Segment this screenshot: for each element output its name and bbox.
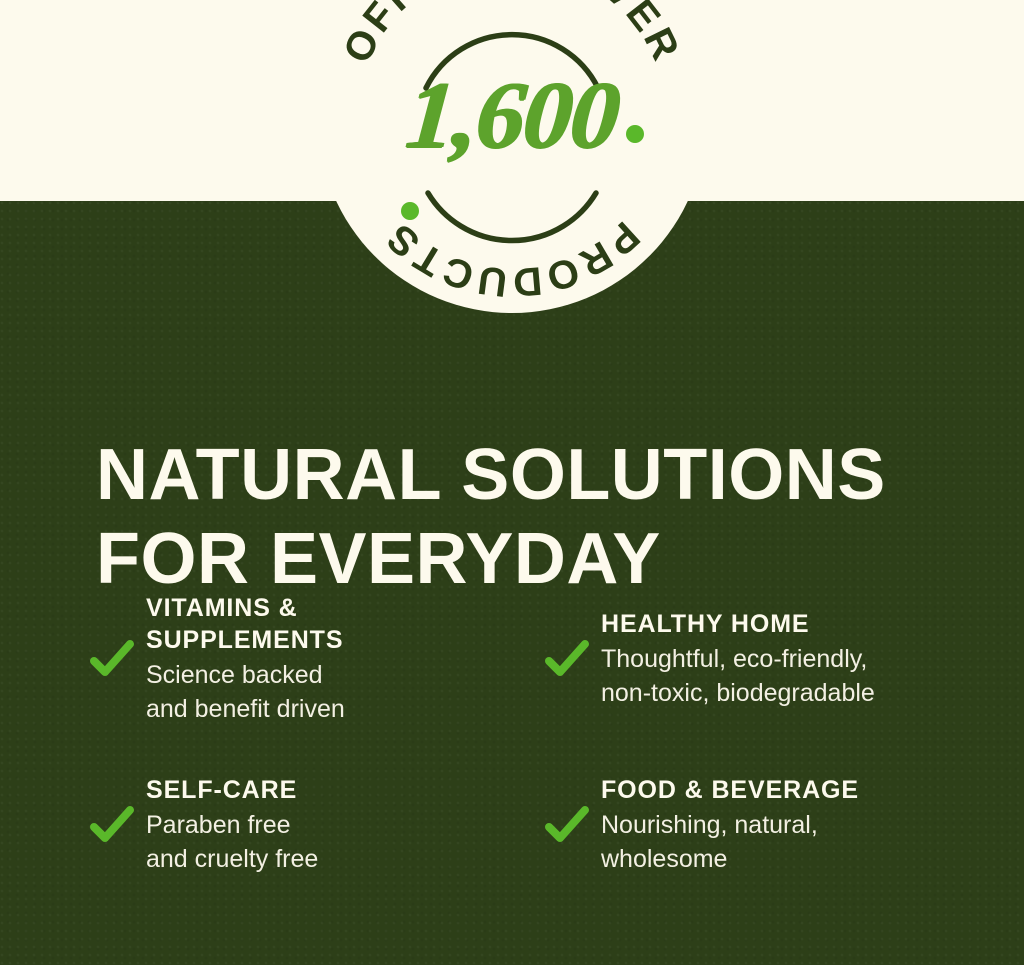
feature-text: SELF-CARE Paraben free and cruelty free [146,774,545,876]
feature-description-line: and cruelty free [146,842,545,876]
feature-description-line: Nourishing, natural, [601,808,990,842]
feature-description: Nourishing, natural, wholesome [601,808,990,876]
feature-title-line: FOOD & BEVERAGE [601,776,859,804]
product-count-badge: OFFERING OVER PRODUCTS 1,600 [318,0,706,313]
page-title: NATURAL SOLUTIONS FOR EVERYDAY [96,433,976,601]
feature-text: HEALTHY HOME Thoughtful, eco-friendly, n… [601,608,990,710]
feature-description: Science backed and benefit driven [146,658,545,726]
feature-description: Paraben free and cruelty free [146,808,545,876]
badge-count-wrapper: 1,600 [318,0,706,313]
page-title-line-1: NATURAL SOLUTIONS [96,433,976,517]
badge-count-value: 1,600 [402,67,621,163]
checkmark-icon [90,803,134,847]
feature-title-line: HEALTHY HOME [601,610,810,638]
feature-description-line: Paraben free [146,808,545,842]
feature-title-line: SELF-CARE [146,776,297,804]
feature-text: FOOD & BEVERAGE Nourishing, natural, who… [601,774,990,876]
feature-description-line: Thoughtful, eco-friendly, [601,642,990,676]
feature-title: HEALTHY HOME [601,608,990,640]
feature-item-vitamins-supplements: VITAMINS & SUPPLEMENTS Science backed an… [90,592,545,726]
feature-title: SELF-CARE [146,774,545,806]
feature-title: FOOD & BEVERAGE [601,774,990,806]
feature-title-line: VITAMINS & [146,594,298,622]
checkmark-icon [90,637,134,681]
checkmark-icon [545,803,589,847]
feature-description-line: non-toxic, biodegradable [601,676,990,710]
feature-title-line: SUPPLEMENTS [146,626,343,654]
feature-description: Thoughtful, eco-friendly, non-toxic, bio… [601,642,990,710]
checkmark-icon [545,637,589,681]
feature-text: VITAMINS & SUPPLEMENTS Science backed an… [146,592,545,726]
feature-list: VITAMINS & SUPPLEMENTS Science backed an… [90,592,990,876]
feature-title: VITAMINS & SUPPLEMENTS [146,592,545,656]
feature-item-self-care: SELF-CARE Paraben free and cruelty free [90,774,545,876]
page-title-line-2: FOR EVERYDAY [96,517,976,601]
feature-item-food-beverage: FOOD & BEVERAGE Nourishing, natural, who… [545,774,990,876]
feature-description-line: wholesome [601,842,990,876]
promo-banner: OFFERING OVER PRODUCTS 1,600 NATURAL SOL… [0,0,1024,965]
feature-item-healthy-home: HEALTHY HOME Thoughtful, eco-friendly, n… [545,592,990,726]
feature-description-line: and benefit driven [146,692,545,726]
feature-description-line: Science backed [146,658,545,692]
